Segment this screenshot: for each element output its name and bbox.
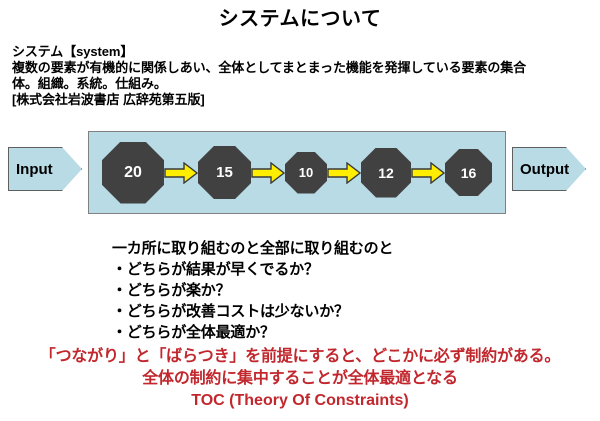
- definition-block: システム【system】 複数の要素が有機的に関係しあい、全体としてまとまった機…: [12, 44, 590, 108]
- definition-body-line-1: 複数の要素が有機的に関係しあい、全体としてまとまった機能を発揮している要素の集合: [12, 60, 590, 76]
- definition-body-line-2: 体。組織。系統。仕組み。: [12, 76, 590, 92]
- flow-arrow-icon: [411, 162, 445, 184]
- question-heading: 一カ所に取り組むのと全部に取り組むのと: [112, 238, 393, 259]
- process-node-value: 20: [124, 164, 142, 182]
- process-node: 16: [445, 149, 492, 196]
- slide-canvas: システムについて システム【system】 複数の要素が有機的に関係しあい、全体…: [0, 0, 600, 421]
- conclusion-block: 「つながり」と「ばらつき」を前提にすると、どこかに必ず制約がある。 全体の制約に…: [0, 346, 600, 412]
- process-node-value: 16: [461, 165, 477, 181]
- definition-citation: [株式会社岩波書店 広辞苑第五版]: [12, 92, 590, 108]
- flow-arrow-icon: [251, 162, 285, 184]
- page-title: システムについて: [0, 6, 600, 32]
- question-item: ・どちらが楽か？: [112, 280, 393, 301]
- process-node: 12: [361, 148, 411, 198]
- output-arrow-shape: Output: [512, 147, 586, 191]
- question-item: ・どちらが結果が早くでるか？: [112, 259, 393, 280]
- system-diagram: Input 20 15 10: [0, 131, 600, 215]
- process-node-value: 12: [378, 165, 394, 181]
- conclusion-toc-label: TOC (Theory Of Constraints): [0, 390, 600, 412]
- process-node-value: 15: [216, 164, 233, 181]
- question-item: ・どちらが改善コストは少ないか？: [112, 301, 393, 322]
- process-node: 20: [102, 142, 164, 204]
- question-item: ・どちらが全体最適か？: [112, 322, 393, 343]
- process-node-row: 20 15 10: [88, 131, 506, 214]
- conclusion-line-2: 全体の制約に集中することが全体最適となる: [0, 368, 600, 390]
- definition-term: システム【system】: [12, 44, 590, 60]
- output-label: Output: [513, 161, 569, 178]
- input-arrow-shape: Input: [8, 147, 82, 191]
- process-node: 15: [198, 146, 251, 199]
- flow-arrow-icon: [164, 162, 198, 184]
- process-node: 10: [285, 152, 327, 194]
- flow-arrow-icon: [327, 162, 361, 184]
- question-list: 一カ所に取り組むのと全部に取り組むのと ・どちらが結果が早くでるか？ ・どちらが…: [112, 238, 393, 343]
- input-label: Input: [9, 161, 53, 178]
- process-node-value: 10: [299, 165, 313, 180]
- conclusion-line-1: 「つながり」と「ばらつき」を前提にすると、どこかに必ず制約がある。: [0, 346, 600, 368]
